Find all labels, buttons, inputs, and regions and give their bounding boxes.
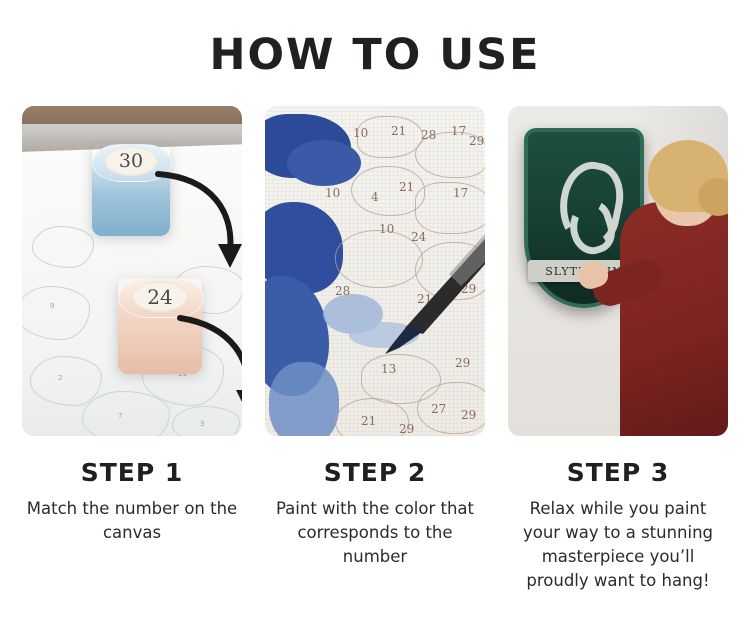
canvas-number: 28 — [421, 128, 436, 142]
person-torso — [620, 202, 728, 436]
step-1-description: Match the number on the canvas — [25, 497, 240, 545]
canvas-number: 29 — [455, 356, 470, 370]
canvas-number: 4 — [371, 190, 379, 204]
arrow-icon — [152, 164, 242, 274]
canvas-number: 17 — [451, 124, 466, 138]
canvas-outline-shape — [22, 286, 90, 340]
canvas-number: 29 — [461, 408, 476, 422]
paint-pot-number: 24 — [147, 285, 172, 309]
canvas-number: 21 — [399, 180, 414, 194]
page-title: HOW TO USE — [0, 0, 750, 80]
canvas-number: 17 — [453, 186, 468, 200]
step-card-3: SLYTHERIN STEP 3 Relax while you paint y… — [508, 106, 728, 593]
step-1-image: 2 7 11 3 9 30 — [22, 106, 242, 436]
blue-paint-stroke — [287, 140, 361, 186]
canvas-number: 21 — [391, 124, 406, 138]
canvas-number: 2 — [58, 374, 62, 382]
steps-container: 2 7 11 3 9 30 — [0, 106, 750, 593]
paintbrush-icon — [365, 226, 485, 356]
canvas-number: 13 — [381, 362, 396, 376]
step-3-image: SLYTHERIN — [508, 106, 728, 436]
canvas-number: 29 — [469, 134, 484, 148]
arrow-icon — [174, 308, 242, 418]
canvas-number: 10 — [325, 186, 340, 200]
canvas-number: 10 — [353, 126, 368, 140]
step-2-description: Paint with the color that corresponds to… — [268, 497, 483, 569]
canvas-number: 9 — [50, 302, 54, 310]
paint-pot-label: 30 — [104, 146, 158, 176]
how-to-use-page: HOW TO USE 2 7 11 3 9 — [0, 0, 750, 635]
step-card-2: 10 21 28 17 29 10 21 4 17 10 24 28 21 29… — [265, 106, 485, 593]
blue-paint-stroke — [269, 362, 339, 436]
step-2-title: STEP 2 — [324, 458, 427, 487]
canvas-number: 27 — [431, 402, 446, 416]
step-1-title: STEP 1 — [81, 458, 184, 487]
canvas-number: 3 — [200, 420, 204, 428]
step-3-description: Relax while you paint your way to a stun… — [511, 497, 726, 593]
step-3-title: STEP 3 — [567, 458, 670, 487]
canvas-number: 29 — [399, 422, 414, 436]
paint-pot-number: 30 — [119, 150, 143, 172]
step-card-1: 2 7 11 3 9 30 — [22, 106, 242, 593]
step-2-image: 10 21 28 17 29 10 21 4 17 10 24 28 21 29… — [265, 106, 485, 436]
canvas-number: 28 — [335, 284, 350, 298]
canvas-number: 21 — [361, 414, 376, 428]
canvas-number: 7 — [118, 412, 122, 420]
